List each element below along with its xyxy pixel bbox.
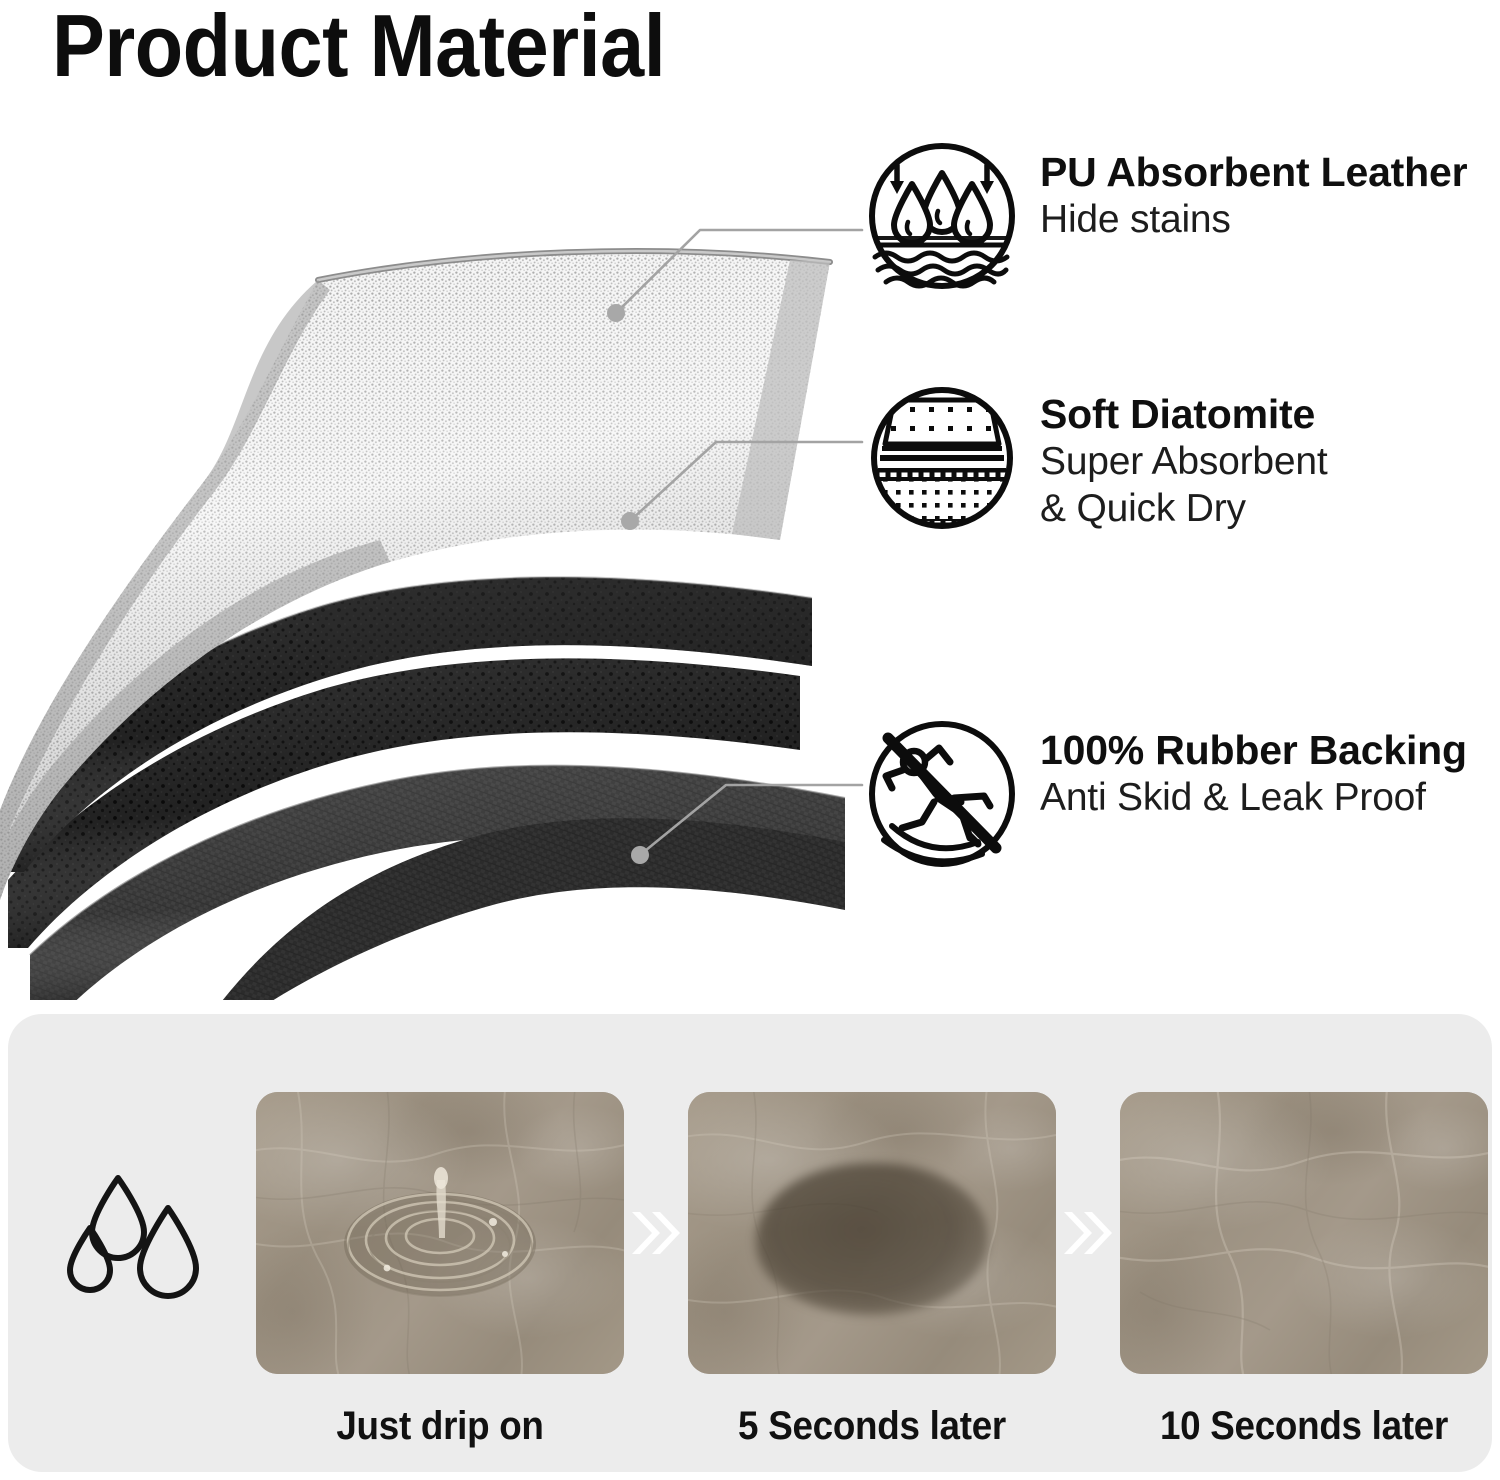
feature-rubber-subtitle-line-1: Anti Skid & Leak Proof — [1040, 774, 1467, 822]
step-3-caption: 10 Seconds later — [1135, 1404, 1474, 1449]
feature-diatomite-subtitle-line-1: Super Absorbent — [1040, 438, 1328, 486]
diatomite-layers-icon — [866, 382, 1018, 534]
absorbency-steps: Just drip on — [256, 1092, 1456, 1392]
step-2-photo — [688, 1092, 1056, 1374]
feature-rubber-title: 100% Rubber Backing — [1040, 728, 1467, 774]
feature-diatomite-title: Soft Diatomite — [1040, 392, 1328, 438]
no-slip-icon — [866, 718, 1018, 870]
water-droplet-splash — [315, 1158, 565, 1308]
marble-veins — [1120, 1092, 1488, 1374]
step-2-caption: 5 Seconds later — [703, 1404, 1042, 1449]
feature-pu-absorbent-leather: PU Absorbent Leather Hide stains — [866, 140, 1467, 292]
absorbency-step-3: 10 Seconds later — [1120, 1092, 1488, 1449]
absorbed-wet-spot — [756, 1163, 988, 1315]
feature-diatomite-text: Soft Diatomite Super Absorbent & Quick D… — [1018, 382, 1328, 533]
absorbency-step-2: 5 Seconds later — [688, 1092, 1056, 1449]
absorbency-step-1: Just drip on — [256, 1092, 624, 1449]
feature-soft-diatomite: Soft Diatomite Super Absorbent & Quick D… — [866, 382, 1328, 534]
double-chevron-right-icon-2 — [1056, 1092, 1120, 1374]
feature-pu-text: PU Absorbent Leather Hide stains — [1018, 140, 1467, 243]
step-3-photo — [1120, 1092, 1488, 1374]
water-absorb-icon — [866, 140, 1018, 292]
double-chevron-right-icon-1 — [624, 1092, 688, 1374]
page-title: Product Material — [52, 2, 665, 90]
step-1-photo — [256, 1092, 624, 1374]
feature-diatomite-subtitle-line-2: & Quick Dry — [1040, 485, 1328, 533]
feature-pu-subtitle-line-1: Hide stains — [1040, 196, 1467, 244]
exploded-mat-illustration — [0, 110, 880, 1000]
feature-pu-title: PU Absorbent Leather — [1040, 150, 1467, 196]
water-drops-icon — [56, 1166, 226, 1316]
product-material-infographic: Product Material — [0, 0, 1500, 1480]
feature-rubber-text: 100% Rubber Backing Anti Skid & Leak Pro… — [1018, 718, 1467, 821]
absorbency-demo-panel: Just drip on — [8, 1014, 1492, 1472]
feature-rubber-backing: 100% Rubber Backing Anti Skid & Leak Pro… — [866, 718, 1467, 870]
step-1-caption: Just drip on — [271, 1404, 610, 1449]
